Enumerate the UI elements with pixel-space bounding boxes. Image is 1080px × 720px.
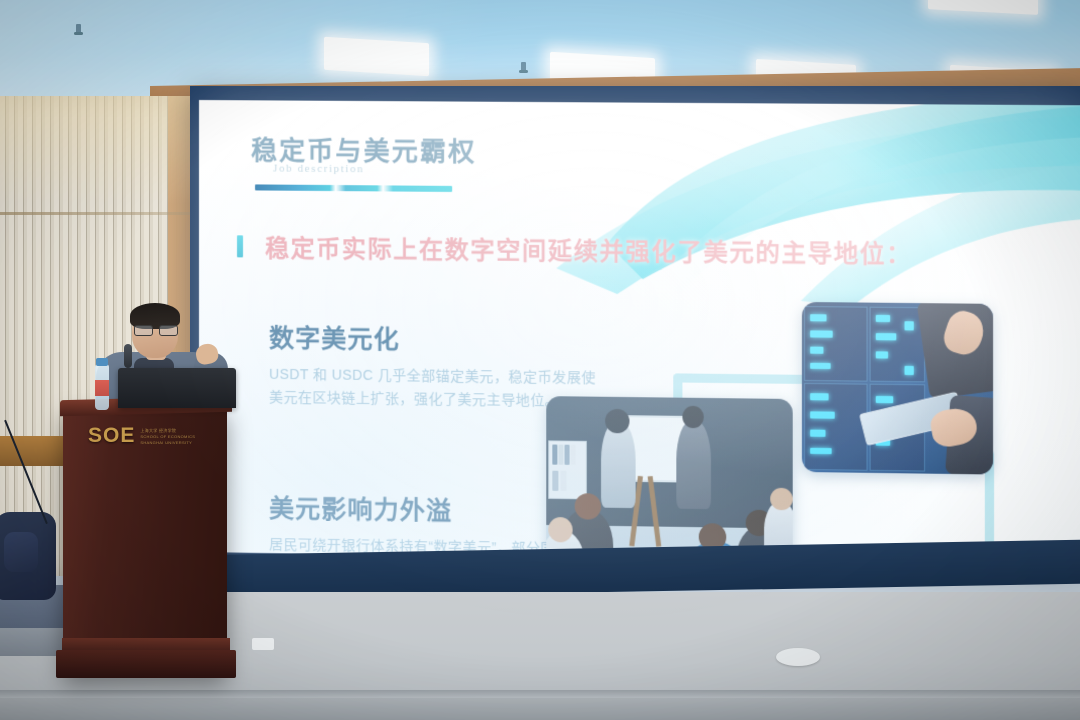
cyan-wave-decoration <box>546 100 1080 319</box>
section-2-heading: 美元影响力外溢 <box>269 489 589 530</box>
sprinkler-head <box>521 62 526 72</box>
water-bottle-cap <box>96 358 108 366</box>
title-accent-bar <box>255 184 452 192</box>
podium-base <box>56 650 236 678</box>
backpack <box>0 512 56 600</box>
podium-logo-subtext-line: 上海大学 经济学院 <box>140 428 195 433</box>
podium-logo-subtext-line: SCHOOL OF ECONOMICS <box>140 434 195 439</box>
panel-light <box>324 37 429 76</box>
podium-logo-subtext-line: SHANGHAI UNIVERSITY <box>140 440 195 445</box>
projection-screen: 稳定币与美元霸权 Job description 稳定币实际上在数字空间延续并强… <box>199 100 1080 565</box>
conference-hall-photo: 稳定币与美元霸权 Job description 稳定币实际上在数字空间延续并强… <box>0 0 1080 720</box>
classroom-meeting-photo <box>546 396 792 565</box>
slide-headline: 稳定币实际上在数字空间延续并强化了美元的主导地位： <box>265 229 912 270</box>
connector-line <box>673 373 808 384</box>
floor-outlet-cover <box>776 648 820 666</box>
stage-edge <box>0 690 1080 698</box>
speaker-glasses <box>134 325 176 334</box>
slide-subtitle: Job description <box>273 163 364 176</box>
podium <box>63 408 227 676</box>
floor-cable-plate <box>252 638 274 650</box>
section-1-heading: 数字美元化 <box>269 319 596 359</box>
water-bottle-label <box>95 380 109 396</box>
headline-bullet-marker <box>237 235 243 257</box>
podium-logo-subtext: 上海大学 经济学院 SCHOOL OF ECONOMICS SHANGHAI U… <box>140 428 195 445</box>
microphone <box>124 344 132 368</box>
laptop <box>118 368 236 408</box>
server-room-tablet-photo <box>802 302 993 475</box>
stage-front-face <box>0 698 1080 720</box>
sprinkler-head <box>76 24 81 34</box>
podium-logo: SOE 上海大学 经济学院 SCHOOL OF ECONOMICS SHANGH… <box>88 424 195 448</box>
podium-logo-text: SOE <box>88 424 135 448</box>
